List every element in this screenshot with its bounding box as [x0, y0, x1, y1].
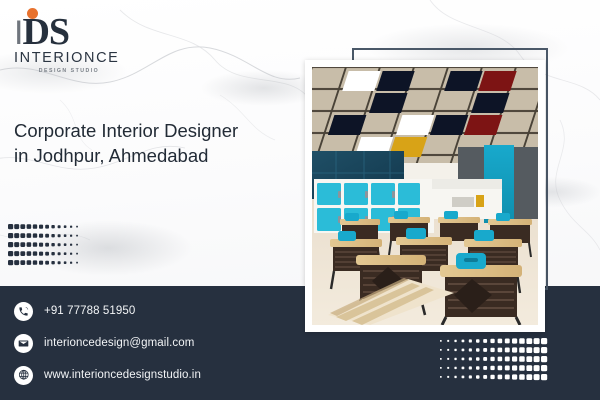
- dot-grid-dark: [8, 224, 80, 268]
- contact-row-phone[interactable]: +91 77788 51950: [14, 299, 294, 323]
- classroom-illustration-icon: [312, 67, 538, 325]
- dot-grid-light: [440, 338, 552, 382]
- brand-logo: IDS INTERIONCE DESIGN STUDIO: [14, 7, 124, 74]
- email-icon: [14, 334, 33, 353]
- contact-website-text: www.interioncedesignstudio.in: [44, 369, 201, 381]
- contact-row-website[interactable]: www.interioncedesignstudio.in: [14, 363, 294, 387]
- phone-icon: [14, 302, 33, 321]
- logo-monogram-ds: DS: [22, 11, 69, 53]
- globe-icon: [14, 366, 33, 385]
- contact-list: +91 77788 51950 interioncedesign@gmail.c…: [14, 299, 294, 395]
- interior-photo-image: [312, 67, 538, 325]
- interior-photo: [305, 60, 545, 332]
- marketing-banner: IDS INTERIONCE DESIGN STUDIO Corporate I…: [0, 0, 600, 400]
- headline-line-2: in Jodhpur, Ahmedabad: [14, 143, 286, 168]
- logo-monogram: IDS: [14, 13, 69, 52]
- contact-row-email[interactable]: interioncedesign@gmail.com: [14, 331, 294, 355]
- contact-email-text: interioncedesign@gmail.com: [44, 337, 194, 349]
- page-title: Corporate Interior Designer in Jodhpur, …: [14, 118, 286, 168]
- contact-phone-text: +91 77788 51950: [44, 305, 135, 317]
- headline-line-1: Corporate Interior Designer: [14, 118, 286, 143]
- brand-tagline: DESIGN STUDIO: [14, 68, 124, 74]
- logo-mark: IDS: [14, 7, 124, 52]
